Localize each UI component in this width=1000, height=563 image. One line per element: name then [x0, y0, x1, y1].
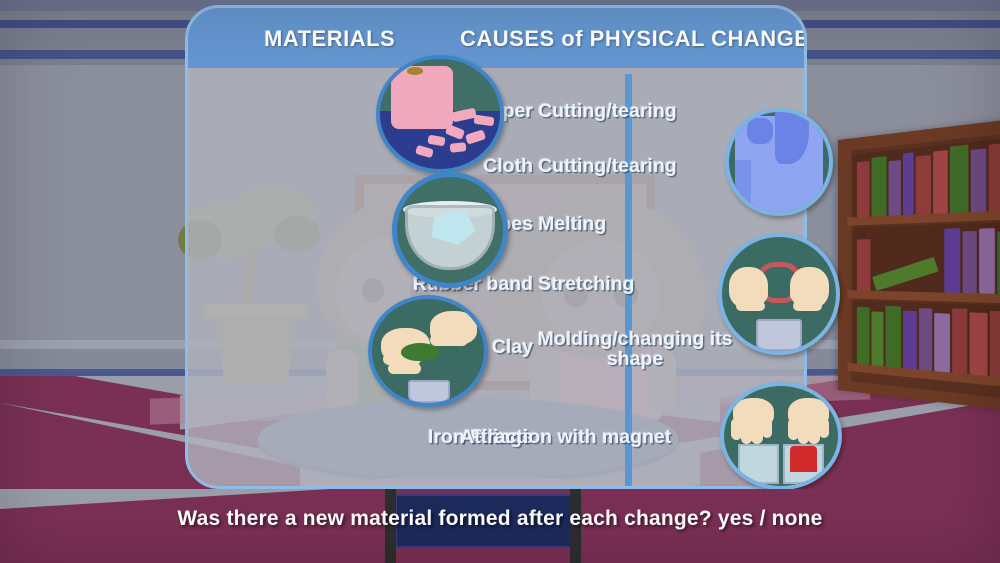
finger — [430, 334, 468, 345]
cloth-shirt-bubble — [725, 108, 833, 216]
finger — [388, 363, 422, 373]
finger — [793, 301, 823, 311]
finger — [819, 418, 829, 438]
cause-label-attraction-magnet: Attraction with magnet — [460, 426, 671, 449]
book — [990, 311, 1000, 378]
cause-label-melting: Melting — [538, 213, 606, 236]
book — [919, 308, 932, 371]
cause-label-cutting-tearing-2: Cutting/tearing — [538, 155, 677, 178]
cup-with-bands — [756, 319, 802, 351]
bookshelf-body — [838, 114, 1000, 415]
clay-molding-bubble — [368, 295, 488, 407]
cause-label-molding: Molding/changing its shape — [515, 330, 755, 370]
book — [944, 228, 960, 293]
shirt-collar — [747, 118, 773, 144]
book — [963, 231, 977, 293]
caption-text: Was there a new material formed after ea… — [0, 507, 1000, 531]
bookshelf-shelf — [853, 221, 1000, 295]
book — [952, 308, 967, 374]
rubber-band-bubble — [718, 233, 840, 355]
paper-roll — [391, 66, 453, 130]
header-materials: MATERIALS — [264, 26, 395, 52]
book — [989, 143, 1000, 211]
book — [903, 152, 914, 215]
cause-label-cutting-tearing-1: Cutting/tearing — [538, 100, 677, 123]
book — [857, 161, 870, 217]
header-causes: CAUSES of PHYSICAL CHANGES — [460, 26, 807, 52]
clay-blob — [401, 343, 439, 362]
cloth-shirt-art — [729, 112, 829, 212]
book — [903, 311, 917, 370]
ice-melting-art — [397, 177, 503, 283]
clay-tray — [408, 380, 451, 403]
cause-label-stretching: Stretching — [538, 273, 634, 296]
book — [889, 160, 901, 216]
book — [950, 145, 968, 213]
shirt-sleeve — [735, 160, 751, 210]
finger — [736, 301, 766, 311]
book — [979, 228, 995, 294]
bookshelf — [838, 140, 1000, 390]
paper-tearing-bubble — [376, 55, 504, 173]
book-leaning — [872, 257, 938, 291]
magnet — [790, 446, 817, 472]
book — [871, 156, 886, 216]
screenshot-root: MATERIALS CAUSES of PHYSICAL CHANGES Pap… — [0, 0, 1000, 563]
book — [970, 312, 988, 376]
book — [971, 148, 987, 212]
finger — [790, 289, 824, 300]
magnet-filings-bubble — [720, 382, 842, 490]
book — [857, 239, 871, 291]
finger — [733, 289, 767, 300]
glass-left — [738, 444, 779, 484]
ice-melting-bubble — [392, 172, 508, 288]
paper-roll-cap — [407, 67, 423, 75]
paper-tearing-art — [380, 59, 500, 169]
clay-molding-art — [372, 299, 484, 403]
paper-scrap — [449, 142, 465, 152]
rubber-band-art — [722, 237, 836, 351]
finger — [762, 418, 772, 438]
book — [871, 311, 883, 366]
book — [886, 306, 901, 368]
book — [934, 313, 950, 372]
magnet-filings-art — [724, 386, 838, 486]
book — [857, 307, 870, 365]
caption-bar: Was there a new material formed after ea… — [0, 489, 1000, 563]
book — [933, 150, 948, 214]
book — [916, 155, 931, 215]
